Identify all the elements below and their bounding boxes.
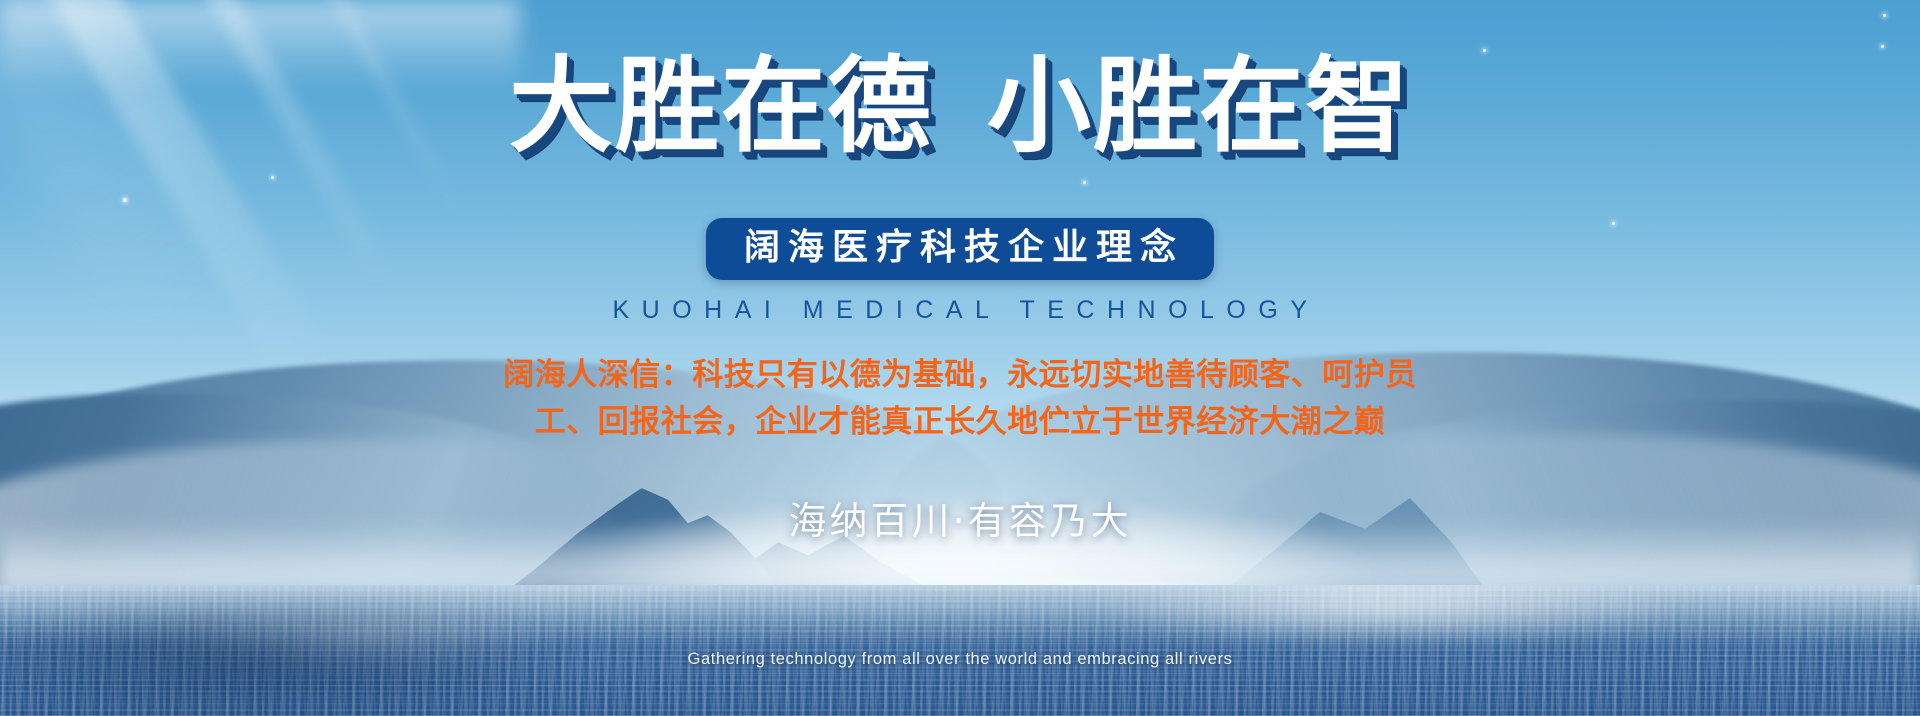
philosophy-statement-line-2: 工、回报社会，企业才能真正长久地伫立于世界经济大潮之巅: [0, 399, 1920, 446]
headline-right: 小胜在智: [987, 45, 1411, 167]
headline: 大胜在德小胜在智: [0, 48, 1920, 164]
motto-english: Gathering technology from all over the w…: [0, 650, 1920, 669]
headline-left: 大胜在德: [509, 45, 933, 167]
philosophy-badge: 阔海医疗科技企业理念: [706, 218, 1214, 280]
english-subtitle: KUOHAI MEDICAL TECHNOLOGY: [0, 296, 1920, 325]
company-philosophy-banner: 大胜在德小胜在智 阔海医疗科技企业理念 KUOHAI MEDICAL TECHN…: [0, 0, 1920, 716]
philosophy-statement-line-1: 阔海人深信：科技只有以德为基础，永远切实地善待顾客、呵护员: [0, 352, 1920, 399]
philosophy-statement: 阔海人深信：科技只有以德为基础，永远切实地善待顾客、呵护员 工、回报社会，企业才…: [0, 352, 1920, 446]
philosophy-badge-label: 阔海医疗科技企业理念: [736, 229, 1184, 267]
motto-chinese: 海纳百川·有容乃大: [0, 490, 1920, 545]
banner-content: 大胜在德小胜在智 阔海医疗科技企业理念 KUOHAI MEDICAL TECHN…: [0, 0, 1920, 716]
